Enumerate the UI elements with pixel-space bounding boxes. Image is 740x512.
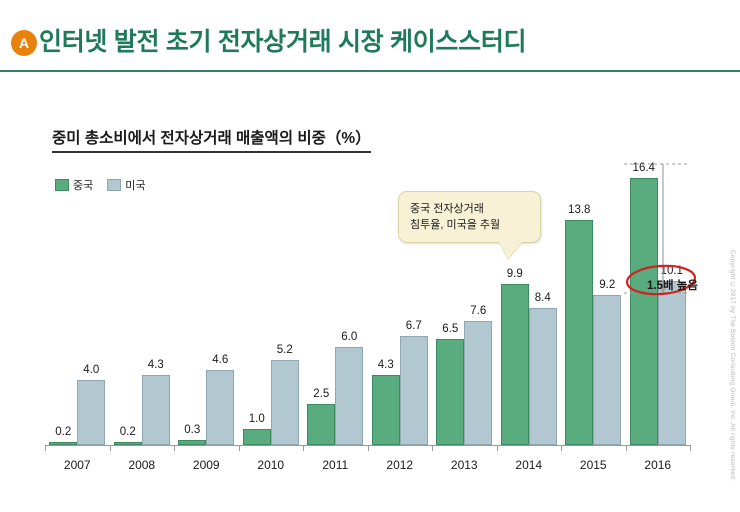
- bar-china: 13.8: [565, 220, 593, 445]
- x-axis-label: 2009: [174, 458, 239, 472]
- bar-group: 1.05.22010: [239, 152, 304, 446]
- bar-china: 0.3: [178, 440, 206, 445]
- x-axis-label: 2016: [626, 458, 691, 472]
- callout-tail-icon: [499, 242, 522, 259]
- ratio-label: 1.5배 높음: [647, 277, 698, 293]
- x-axis-label: 2007: [45, 458, 110, 472]
- bar-china: 0.2: [49, 442, 77, 445]
- x-axis-label: 2008: [110, 458, 175, 472]
- chart-plot-area: 0.24.020070.24.320080.34.620091.05.22010…: [45, 152, 690, 446]
- bar-china: 4.3: [372, 375, 400, 445]
- bar-group: 0.24.02007: [45, 152, 110, 446]
- bar-us: 8.4: [529, 308, 557, 445]
- x-axis-tick: [45, 445, 46, 451]
- x-axis-label: 2011: [303, 458, 368, 472]
- chart-container: 중미 총소비에서 전자상거래 매출액의 비중（%） 중국 미국 0.24.020…: [0, 72, 740, 512]
- bar-china: 9.9: [501, 284, 529, 445]
- bar-value-label: 6.0: [341, 331, 357, 343]
- page-header: A 인터넷 발전 초기 전자상거래 시장 케이스스터디: [0, 0, 740, 72]
- bar-value-label: 13.8: [568, 204, 590, 216]
- bar-pair: 2.56.0: [303, 152, 368, 445]
- bar-value-label: 4.3: [148, 359, 164, 371]
- bar-pair: 0.24.0: [45, 152, 110, 445]
- x-axis-tick: [432, 445, 433, 451]
- bar-china: 1.0: [243, 429, 271, 445]
- bar-value-label: 9.9: [507, 268, 523, 280]
- copyright-notice: Copyright ©2017 by The Boston Consulting…: [729, 250, 736, 481]
- x-axis-tick: [110, 445, 111, 451]
- bar-value-label: 4.3: [378, 359, 394, 371]
- x-axis-label: 2013: [432, 458, 497, 472]
- bar-value-label: 2.5: [313, 388, 329, 400]
- bar-value-label: 5.2: [277, 344, 293, 356]
- bar-china: 0.2: [114, 442, 142, 445]
- bar-value-label: 0.3: [184, 424, 200, 436]
- x-axis-tick: [239, 445, 240, 451]
- x-axis-tick: [626, 445, 627, 451]
- bar-us: 6.0: [335, 347, 363, 445]
- bar-value-label: 6.7: [406, 320, 422, 332]
- bar-group: 0.24.32008: [110, 152, 175, 446]
- bar-group: 0.34.62009: [174, 152, 239, 446]
- x-axis-label: 2015: [561, 458, 626, 472]
- bar-us: 6.7: [400, 336, 428, 445]
- section-badge: A: [11, 30, 37, 56]
- bar-us: 7.6: [464, 321, 492, 445]
- bar-pair: 1.05.2: [239, 152, 304, 445]
- x-axis-tick: [690, 445, 691, 451]
- x-axis-tick: [303, 445, 304, 451]
- chart-title: 중미 총소비에서 전자상거래 매출액의 비중（%）: [52, 126, 371, 153]
- bar-china: 6.5: [436, 339, 464, 445]
- bar-pair: 0.24.3: [110, 152, 175, 445]
- bar-us: 4.6: [206, 370, 234, 445]
- bar-us: 5.2: [271, 360, 299, 445]
- bar-pair: 0.34.6: [174, 152, 239, 445]
- bar-value-label: 7.6: [470, 305, 486, 317]
- bar-us: 4.3: [142, 375, 170, 445]
- x-axis-tick: [497, 445, 498, 451]
- bar-china: 2.5: [307, 404, 335, 445]
- x-axis-label: 2010: [239, 458, 304, 472]
- bar-value-label: 0.2: [55, 426, 71, 438]
- callout-text: 중국 전자상거래 침투율, 미국을 추월: [410, 201, 500, 233]
- bar-value-label: 4.0: [83, 364, 99, 376]
- bar-group: 2.56.02011: [303, 152, 368, 446]
- x-axis-tick: [368, 445, 369, 451]
- bar-value-label: 1.0: [249, 413, 265, 425]
- bar-us: 4.0: [77, 380, 105, 445]
- bar-value-label: 0.2: [120, 426, 136, 438]
- x-axis-tick: [561, 445, 562, 451]
- bar-value-label: 8.4: [535, 292, 551, 304]
- x-axis-label: 2014: [497, 458, 562, 472]
- bar-value-label: 6.5: [442, 323, 458, 335]
- x-axis-label: 2012: [368, 458, 433, 472]
- bar-value-label: 4.6: [212, 354, 228, 366]
- ratio-annotation: [600, 152, 720, 362]
- x-axis-tick: [174, 445, 175, 451]
- callout-bubble: 중국 전자상거래 침투율, 미국을 추월: [398, 191, 541, 243]
- page-title: 인터넷 발전 초기 전자상거래 시장 케이스스터디: [39, 22, 526, 58]
